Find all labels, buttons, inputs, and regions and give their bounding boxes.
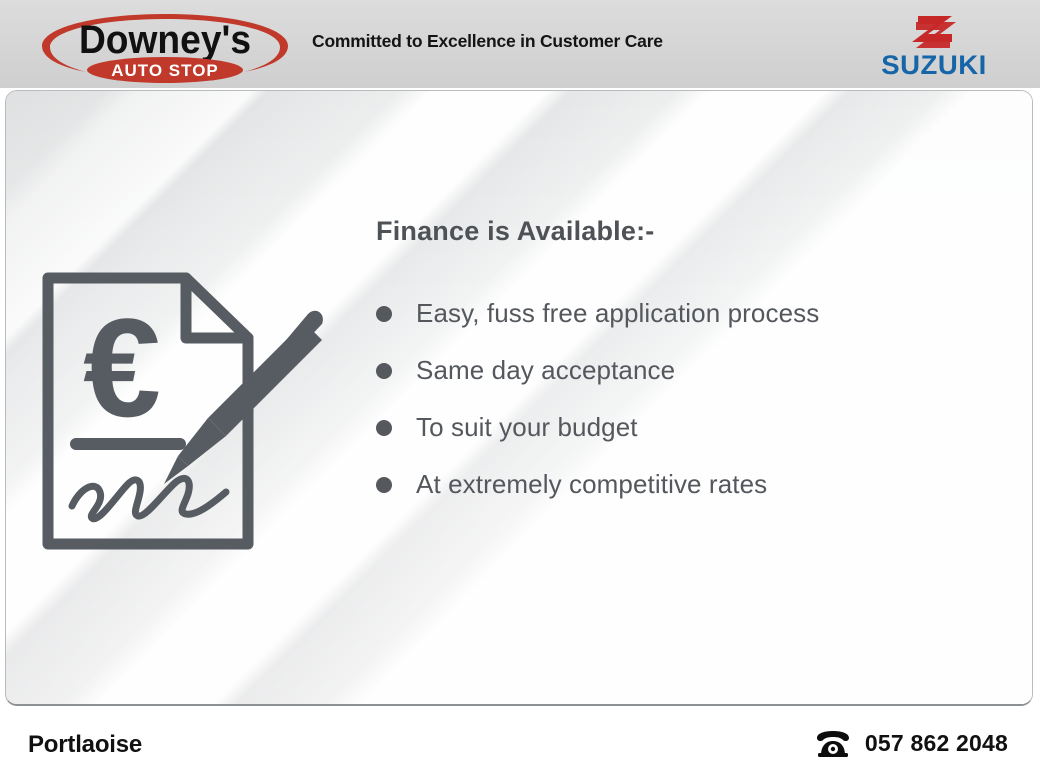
bullet-dot-icon [376,420,392,436]
location-label: Portlaoise [28,731,142,759]
list-item-label: Easy, fuss free application process [416,298,819,329]
euro-symbol: € [83,289,161,446]
bullet-dot-icon [376,363,392,379]
page-footer: Portlaoise 057 862 2048 [0,708,1040,780]
telephone-icon [814,731,852,757]
list-item: Same day acceptance [376,342,1016,399]
euro-document-signature-icon: € [36,266,328,558]
list-item: At extremely competitive rates [376,456,1016,513]
suzuki-logo[interactable]: SUZUKI [856,12,1012,80]
suzuki-s-emblem [912,16,956,48]
list-item-label: To suit your budget [416,412,638,443]
list-item: To suit your budget [376,399,1016,456]
list-item: Easy, fuss free application process [376,285,1016,342]
phone-number: 057 862 2048 [865,730,1008,757]
phone-contact[interactable]: 057 862 2048 [814,730,1008,757]
page-title: Finance is Available:- [376,216,1016,247]
finance-benefits-list: Easy, fuss free application process Same… [376,285,1016,513]
finance-content: Finance is Available:- Easy, fuss free a… [376,216,1016,513]
bullet-dot-icon [376,477,392,493]
signature-squiggle [72,478,226,518]
page-header: Downey's AUTO STOP Committed to Excellen… [0,0,1040,88]
header-tagline: Committed to Excellence in Customer Care [312,31,663,52]
bullet-dot-icon [376,306,392,322]
finance-panel: € Finance is Available:- Easy, fuss free… [5,90,1033,706]
suzuki-wordmark: SUZUKI [881,49,987,80]
list-item-label: Same day acceptance [416,355,675,386]
list-item-label: At extremely competitive rates [416,469,767,500]
downeys-logo[interactable]: Downey's AUTO STOP [34,6,296,84]
logo-brand-text: Downey's [79,18,251,63]
logo-sub-text: AUTO STOP [111,61,219,80]
